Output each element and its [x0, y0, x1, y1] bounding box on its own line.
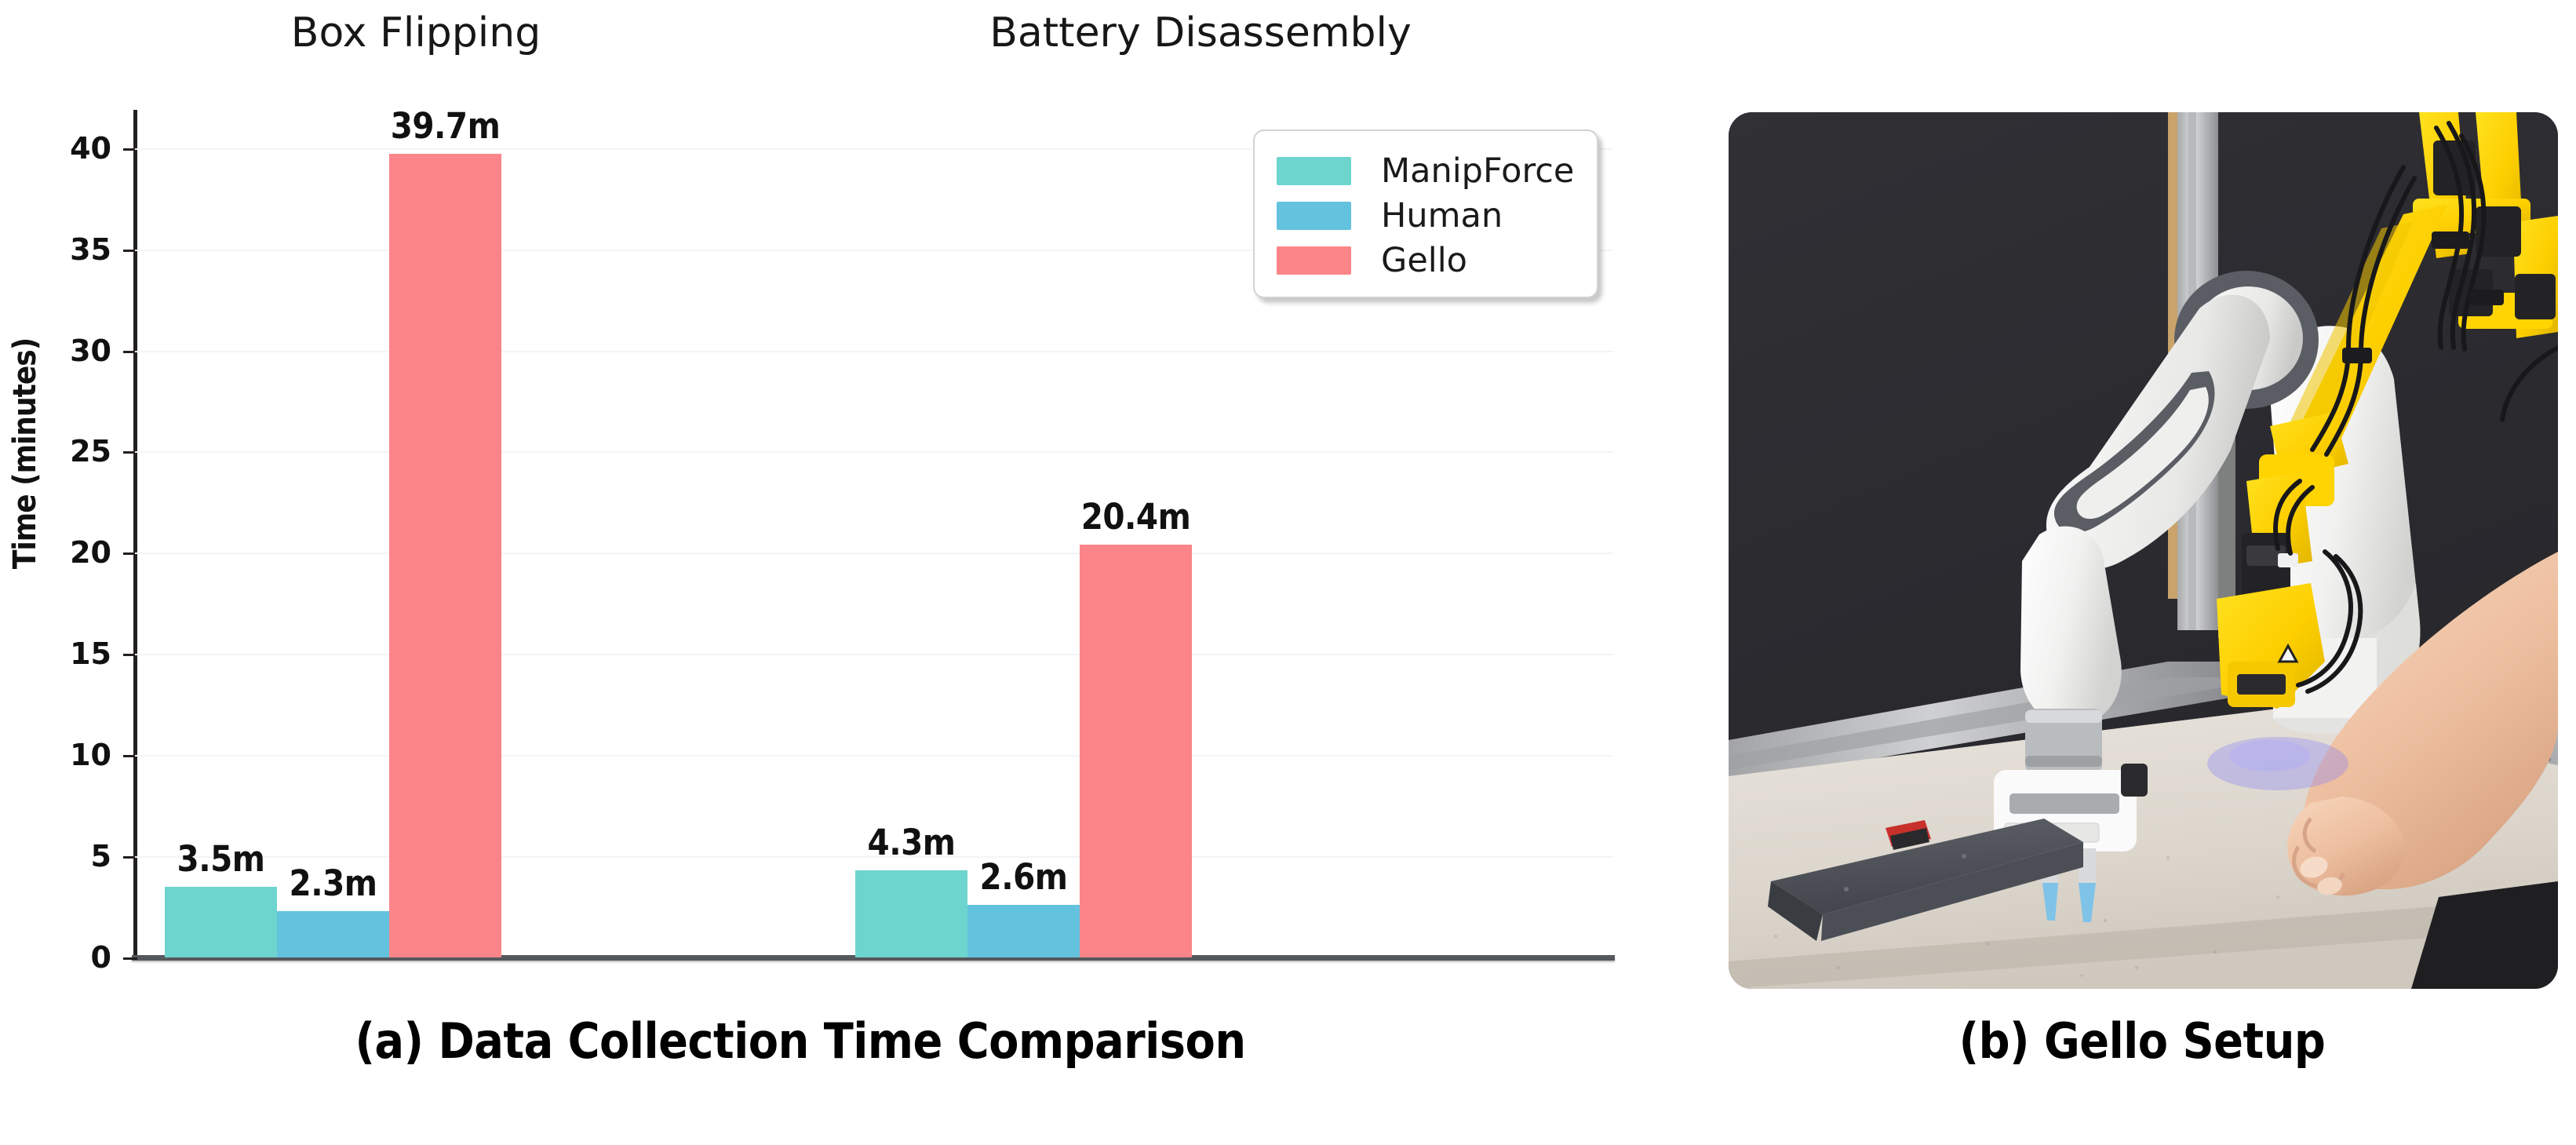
gridline: [135, 351, 1613, 352]
legend-item-gello[interactable]: Gello: [1277, 238, 1578, 283]
gridline: [135, 755, 1613, 757]
group-title-battery-disassembly: Battery Disassembly: [855, 9, 1546, 57]
gridline: [135, 552, 1613, 554]
y-tick-label: 35: [41, 232, 111, 267]
bar-human-1[interactable]: [967, 905, 1080, 957]
legend-swatch-human: [1277, 202, 1351, 230]
y-tick-label: 25: [41, 434, 111, 469]
legend-label-human: Human: [1381, 196, 1503, 235]
gridline: [135, 654, 1613, 655]
legend-swatch-gello: [1277, 246, 1351, 275]
bar-value-label: 2.3m: [246, 862, 421, 904]
gridline: [135, 451, 1613, 453]
y-tick-mark: [123, 957, 137, 960]
gello-setup-photo: [1729, 112, 2558, 989]
bar-gello-0[interactable]: [389, 154, 501, 957]
legend-item-human[interactable]: Human: [1277, 193, 1578, 238]
y-tick-label: 15: [41, 636, 111, 671]
chart-legend: ManipForce Human Gello: [1253, 129, 1598, 298]
bar-value-label: 39.7m: [358, 105, 533, 147]
caption-b: (b) Gello Setup: [1726, 1012, 2558, 1070]
y-tick-label: 0: [41, 940, 111, 975]
photo-illustration: [1729, 112, 2558, 989]
y-tick-label: 5: [41, 839, 111, 873]
legend-label-manipforce: ManipForce: [1381, 151, 1574, 191]
group-title-box-flipping: Box Flipping: [165, 9, 667, 57]
y-axis-title: Time (minutes): [7, 242, 43, 665]
legend-label-gello: Gello: [1381, 241, 1467, 280]
legend-item-manipforce[interactable]: ManipForce: [1277, 148, 1578, 193]
bar-human-0[interactable]: [277, 911, 389, 957]
bar-value-label: 2.6m: [936, 856, 1111, 898]
y-tick-label: 10: [41, 738, 111, 772]
panel-a-chart: Box Flipping Battery Disassembly Time (m…: [0, 0, 1648, 1145]
legend-swatch-manipforce: [1277, 157, 1351, 185]
y-tick-label: 20: [41, 535, 111, 570]
y-tick-label: 40: [41, 131, 111, 166]
y-tick-label: 30: [41, 334, 111, 368]
bar-value-label: 20.4m: [1048, 496, 1223, 538]
figure-root: Box Flipping Battery Disassembly Time (m…: [0, 0, 2576, 1145]
caption-a: (a) Data Collection Time Comparison: [0, 1012, 1601, 1070]
